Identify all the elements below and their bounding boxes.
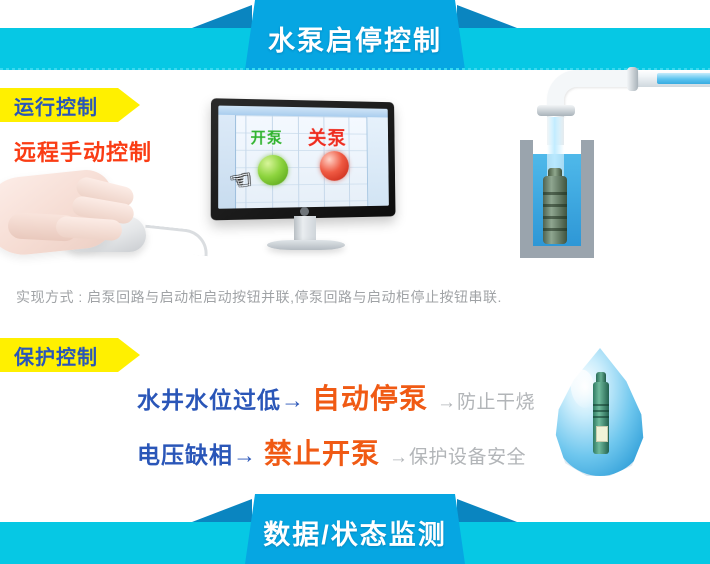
water-drop-with-pump-illustration	[545, 348, 655, 483]
monitor-stand-base	[267, 240, 345, 250]
remote-manual-control-subtitle: 远程手动控制	[14, 135, 152, 167]
rule-action: 自动停泵	[312, 377, 428, 417]
rule-arrow-secondary: →	[389, 447, 408, 469]
pump-band	[543, 192, 567, 195]
desktop-monitor-illustration: 开泵 关泵 ☜	[205, 100, 405, 265]
pump-band	[543, 204, 567, 207]
well-floor	[520, 246, 594, 258]
protection-rule-row: 电压缺相 → 禁止开泵 → 保护设备安全	[137, 432, 526, 472]
protection-control-tag-label: 保护控制	[0, 341, 98, 370]
run-control-tag: 运行控制	[0, 88, 140, 122]
pipe-water-flow	[657, 73, 710, 84]
bottom-banner: 数据/状态监测	[0, 494, 710, 564]
rule-result: 防止干烧	[457, 387, 535, 414]
hand-on-mouse-illustration	[0, 168, 205, 278]
pump-on-label: 开泵	[251, 126, 284, 147]
implementation-note: 实现方式 : 启泵回路与启动柜启动按钮并联,停泵回路与启动柜停止按钮串联.	[16, 287, 502, 307]
submersible-pump-body	[543, 176, 567, 244]
drop-pump-band	[593, 416, 609, 418]
mouse-cable	[143, 225, 210, 257]
pump-band	[543, 228, 567, 231]
well-wall-left	[520, 140, 533, 258]
drop-pump-band	[593, 410, 609, 412]
pump-off-label: 关泵	[308, 123, 347, 150]
protection-control-tag: 保护控制	[0, 338, 140, 372]
rule-result: 保护设备安全	[409, 442, 526, 469]
monitor-brand-logo	[300, 207, 309, 216]
top-banner-title: 水泵启停控制	[0, 19, 710, 58]
red-indicator-lamp[interactable]	[320, 151, 349, 181]
drop-pump-band	[593, 404, 609, 406]
hand-pointer-icon: ☜	[228, 168, 254, 196]
top-banner: 水泵启停控制	[0, 0, 710, 70]
rule-condition: 电压缺相	[137, 436, 233, 470]
pipe-flange-vertical	[537, 105, 575, 116]
rule-arrow-primary: →	[233, 442, 256, 469]
rule-condition: 水井水位过低	[137, 381, 281, 415]
bottom-banner-title: 数据/状态监测	[0, 513, 710, 552]
run-control-tag-label: 运行控制	[0, 91, 98, 120]
monitor-bezel: 开泵 关泵 ☜	[211, 98, 396, 220]
drop-pump-nameplate	[596, 426, 608, 442]
well-wall-right	[581, 140, 594, 258]
scada-grid-background	[218, 115, 389, 209]
pump-band	[543, 216, 567, 219]
green-indicator-lamp[interactable]	[258, 155, 288, 186]
drop-pump-body	[593, 382, 609, 454]
submersible-pump-in-well-illustration	[485, 62, 710, 267]
monitor-screen: 开泵 关泵 ☜	[218, 106, 389, 209]
pipe-flange-horizontal	[627, 67, 638, 91]
hand-finger	[55, 216, 122, 242]
monitor-stand-neck	[294, 216, 316, 242]
rule-arrow-primary: →	[281, 387, 304, 414]
rule-arrow-secondary: →	[437, 392, 456, 414]
protection-rule-row: 水井水位过低 → 自动停泵 → 防止干烧	[137, 377, 535, 417]
rule-action: 禁止开泵	[264, 432, 380, 472]
app-right-panel	[366, 117, 389, 206]
